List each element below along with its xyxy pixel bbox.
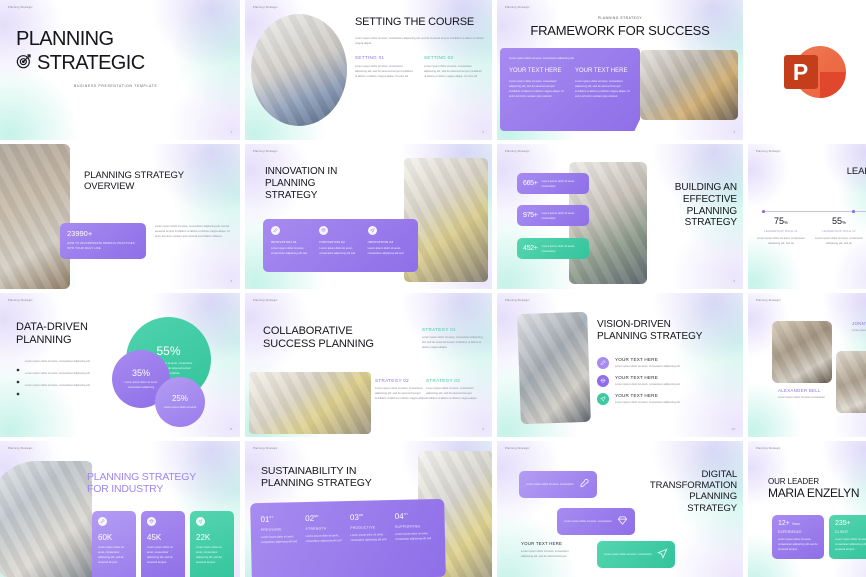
milestone-1: 75% LEADERSHIP ROLE 01 Lorem ipsum dolor… [752, 216, 810, 246]
member-2: JONNY DEPT Lorem ipsum dolor sit amet co… [852, 321, 866, 333]
page-title-line2: TRANSFORMATION [650, 480, 737, 491]
page-title-line1: VISION-DRIVEN [597, 319, 739, 331]
milestone-body: Lorem ipsum dolor sit amet, consectetur … [752, 236, 810, 246]
page-title-line2: PLANNING [265, 178, 337, 190]
page-title-line1: LEADERSHIP ROLES [760, 166, 866, 177]
stat-value: 235+ [835, 520, 866, 527]
page-title-line2: PLANNING STRATEGY [261, 477, 372, 489]
sparkle-icon [16, 359, 20, 363]
member-body: Lorem ipsum dolor sit amet consectetur [778, 395, 840, 400]
stat-value: 452+ [523, 245, 538, 252]
vision-item-1: YOUR TEXT HERE Lorem ipsum dolor sit ame… [597, 357, 737, 369]
bullet-item: Lorem ipsum dolor sit amet, consectetur … [16, 359, 104, 364]
step-label: STRENGTH [305, 526, 345, 531]
slide-photo [517, 312, 591, 424]
stat-body: Lorem ipsum dolor sit amet, consectetur [542, 244, 583, 254]
slide-header-label: Planning Strategic [756, 299, 781, 302]
slide-planning-strategy-for-industry[interactable]: Planning Strategic PLANNING STRATEGY FOR… [0, 441, 240, 577]
slide-team-profiles[interactable]: Planning Strategic ALEXANDER BELL Lorem … [748, 293, 866, 437]
slide-our-leader[interactable]: Planning Strategic OUR LEADER MARIA ENZE… [748, 441, 866, 577]
member-photo-1 [772, 321, 832, 383]
page-title-line2: PLANNING STRATEGY [597, 331, 739, 343]
slide-powerpoint-logo[interactable]: P [748, 0, 866, 140]
step-label: PRESSURE [261, 527, 301, 532]
column-body: Lorem ipsum dolor sit amet, consectetur … [355, 64, 415, 79]
innovation-panel: INNOVATION 01 Lorem ipsum dolor sit amet… [263, 219, 418, 272]
sparkle-icon [16, 371, 20, 375]
slide-planning-strategy-overview[interactable]: PLANNING STRATEGY OVERVIEW 23990+ HOW TO… [0, 144, 240, 289]
slide-page-number: 10 [732, 427, 735, 431]
strategy-label: STRATEGY 03 [426, 378, 478, 383]
vision-item-2: YOUR TEXT HERE Lorem ipsum dolor sit ame… [597, 375, 737, 387]
powerpoint-icon: P [784, 39, 846, 101]
vision-body: Lorem ipsum dolor sit amet, consectetur … [615, 400, 737, 405]
slide-page-number: 9 [482, 427, 484, 431]
bullet-item: Lorem ipsum dolor sit amet, consectetur … [16, 383, 104, 388]
slide-header-label: Planning Strategic [505, 6, 530, 9]
slide-header-label: Planning Strategic [505, 150, 530, 153]
send-icon [597, 393, 609, 405]
stat-card: 23990+ HOW TO INCORPORATE MINDFUL PRACTI… [60, 223, 146, 259]
slide-title[interactable]: Planning Strategic PLANNING STRATEGIC BU… [0, 0, 240, 140]
page-title-line4: STRATEGY [675, 217, 737, 229]
column-setting-02: SETTING 02 Lorem ipsum dolor sit amet, c… [424, 55, 484, 79]
industry-value: 45K [147, 533, 179, 542]
slide-header-label: Planning Strategic [505, 299, 530, 302]
slide-leadership-roles-strategy[interactable]: Planning Strategic LEADERSHIP ROLES STRA… [748, 144, 866, 289]
page-title-line3: PLANNING [675, 206, 737, 218]
step-04: 04TH SUPPORTING Lorem ipsum dolor sit am… [395, 511, 436, 566]
innovation-item-2: INNOVATION 02 Lorem ipsum dolor sit amet… [319, 226, 361, 265]
milestone-value: 75% [752, 216, 810, 226]
send-icon [196, 517, 205, 526]
slide-header-label: Planning Strategic [253, 299, 278, 302]
slide-header-label: Planning Strategic [8, 447, 33, 450]
page-title: FRAMEWORK FOR SUCCESS [497, 23, 743, 38]
page-title-line1: DIGITAL [650, 469, 737, 480]
slide-header-label: Planning Strategic [253, 6, 278, 9]
innovation-item-1: INNOVATION 01 Lorem ipsum dolor sit amet… [271, 226, 313, 265]
diamond-icon [597, 375, 609, 387]
panel-intro: Lorem ipsum dolor sit amet, consectetur … [509, 56, 631, 61]
page-body: Lorem ipsum dolor sit amet, consectetur … [355, 36, 484, 46]
bullet-body: Lorem ipsum dolor sit amet, consectetur … [25, 371, 90, 376]
slide-page-number: 6 [733, 279, 735, 283]
note-heading: YOUR TEXT HERE [521, 541, 581, 546]
milestone-value: 55% [810, 216, 866, 226]
diamond-icon [617, 513, 628, 531]
member-photo-2 [836, 351, 866, 413]
column-label: SETTING 02 [424, 55, 484, 60]
milestone-body: Lorem ipsum dolor sit amet, consectetur … [810, 236, 866, 246]
step-number: 02ND [305, 513, 345, 523]
page-title-line4: STRATEGY [650, 503, 737, 514]
leader-stat-2: 235+ CLIENT Lorem ipsum dolor sit amet, … [829, 515, 866, 559]
innovation-item-3: INNOVATION 03 Lorem ipsum dolor sit amet… [368, 226, 410, 265]
slide-photo [249, 372, 371, 434]
stat-card-1: 665+ Lorem ipsum dolor sit amet, consect… [517, 173, 589, 194]
stat-value: 25% [172, 394, 188, 403]
slide-innovation-in-planning-strategy[interactable]: Planning Strategic INNOVATION IN PLANNIN… [245, 144, 492, 289]
page-title-line2: FOR INDUSTRY [87, 483, 236, 495]
page-body: Lorem ipsum dolor sit amet, consectetur … [155, 224, 231, 239]
stat-value: 665+ [523, 180, 538, 187]
slide-thumbnail-grid: Planning Strategic PLANNING STRATEGIC BU… [0, 0, 866, 577]
stat-value: 35% [132, 368, 150, 378]
content-panel: Lorem ipsum dolor sit amet, consectetur … [500, 48, 640, 131]
slide-page-number: 2 [482, 130, 484, 134]
slide-setting-the-course[interactable]: Planning Strategic SETTING THE COURSE Lo… [245, 0, 492, 140]
slide-page-number: 1 [230, 130, 232, 134]
industry-body: Lorem ipsum dolor sit amet, consectetur … [98, 545, 130, 565]
page-eyebrow: PLANNING STRATEGY [497, 16, 743, 20]
industry-body: Lorem ipsum dolor sit amet, consectetur … [147, 545, 179, 565]
vision-item-3: YOUR TEXT HERE Lorem ipsum dolor sit ame… [597, 393, 737, 405]
step-number: 04TH [395, 511, 435, 521]
note-block: YOUR TEXT HERE Lorem ipsum dolor sit ame… [521, 541, 581, 559]
rocket-icon [98, 517, 107, 526]
innovation-body: Lorem ipsum dolor sit amet, consectetur … [368, 246, 410, 256]
step-body: Lorem ipsum dolor sit amet, consectetur … [306, 533, 346, 544]
innovation-label: INNOVATION 02 [319, 240, 361, 244]
leader-name: MARIA ENZELYN [768, 486, 859, 500]
send-icon [368, 226, 377, 235]
stat-circle-25: 25% Lorem ipsum dolor sit amet [155, 377, 205, 427]
stat-value: 55% [156, 344, 180, 358]
stat-body: Lorem ipsum dolor sit amet, consectetur … [835, 537, 866, 552]
panel-column-1: YOUR TEXT HERE Lorem ipsum dolor sit ame… [509, 68, 565, 99]
column-setting-01: SETTING 01 Lorem ipsum dolor sit amet, c… [355, 55, 415, 79]
milestone-label: LEADERSHIP ROLE 02 [810, 229, 866, 233]
vision-body: Lorem ipsum dolor sit amet, consectetur … [615, 364, 737, 369]
stat-body: Lorem ipsum dolor sit amet, consectetur [542, 179, 583, 189]
pill-3: Lorem ipsum dolor sit amet, consectetur [597, 541, 675, 568]
page-title-line1: INNOVATION IN [265, 166, 337, 178]
slide-header-label: Planning Strategic [505, 447, 530, 450]
page-title-line1: SUSTAINABILITY IN [261, 465, 372, 477]
stat-card-3: 452+ Lorem ipsum dolor sit amet, consect… [517, 238, 589, 259]
slide-page-number: 3 [733, 130, 735, 134]
slide-framework-for-success[interactable]: Planning Strategic PLANNING STRATEGY FRA… [497, 0, 743, 140]
stat-value: 23990+ [67, 229, 139, 238]
slide-page-number: 5 [482, 279, 484, 283]
industry-card-1: 60K Lorem ipsum dolor sit amet, consecte… [92, 511, 136, 577]
panel-column-heading: YOUR TEXT HERE [509, 68, 565, 75]
bullet-body: Lorem ipsum dolor sit amet, consectetur … [25, 383, 90, 388]
page-title-line1: PLANNING [16, 28, 158, 50]
slide-header-label: Planning Strategic [8, 299, 33, 302]
step-number: 03RD [350, 512, 390, 522]
leader-stat-1: 12+ Years EXPERIENCE Lorem ipsum dolor s… [772, 515, 824, 559]
slide-photo [0, 144, 70, 289]
slide-header-label: Planning Strategic [756, 150, 781, 153]
vision-heading: YOUR TEXT HERE [615, 375, 737, 380]
stat-body: Lorem ipsum dolor sit amet [164, 405, 196, 410]
powerpoint-letter: P [793, 59, 808, 86]
stat-label: CLIENT [835, 530, 866, 534]
strategy-02: STRATEGY 02 Lorem ipsum dolor sit amet, … [375, 378, 427, 401]
slide-digital-transformation-planning-strategy[interactable]: Planning Strategic Lorem ipsum dolor sit… [497, 441, 743, 577]
innovation-body: Lorem ipsum dolor sit amet, consectetur … [271, 246, 313, 256]
sparkle-icon [16, 383, 20, 387]
column-body: Lorem ipsum dolor sit amet, consectetur … [424, 64, 484, 79]
column-label: SETTING 01 [355, 55, 415, 60]
strategy-label: STRATEGY 01 [422, 327, 484, 332]
strategy-03: STRATEGY 03 Lorem ipsum dolor sit amet, … [426, 378, 478, 401]
stat-card-2: 975+ Lorem ipsum dolor sit amet, consect… [517, 205, 589, 226]
page-title-line2: PLANNING [16, 334, 88, 347]
member-name: ALEXANDER BELL [778, 388, 840, 393]
page-title-line2: OVERVIEW [84, 181, 234, 192]
pill-body: Lorem ipsum dolor sit amet, consectetur [604, 552, 652, 557]
page-title-line1: COLLABORATIVE [263, 325, 374, 338]
diamond-icon [147, 517, 156, 526]
strategy-body: Lorem ipsum dolor sit amet, consectetur … [426, 386, 478, 401]
industry-body: Lorem ipsum dolor sit amet, consectetur … [196, 545, 228, 565]
send-icon [657, 546, 668, 564]
slide-header-label: Planning Strategic [8, 6, 33, 9]
slide-photo [640, 50, 738, 120]
timeline-line [765, 211, 852, 212]
step-02: 02ND STRENGTH Lorem ipsum dolor sit amet… [305, 513, 346, 568]
slide-page-number: 8 [230, 427, 232, 431]
page-title-line3: PLANNING [650, 491, 737, 502]
vision-heading: YOUR TEXT HERE [615, 393, 737, 398]
panel-column-body: Lorem ipsum dolor sit amet, consectetur … [575, 79, 631, 99]
page-title: SETTING THE COURSE [355, 16, 484, 29]
note-body: Lorem ipsum dolor sit amet, consectetur … [521, 549, 581, 559]
page-title-line2: STRATEGY [760, 177, 866, 188]
slide-photo [0, 461, 92, 577]
slide-header-label: Planning Strategic [253, 150, 278, 153]
slide-page-number: 4 [230, 279, 232, 283]
step-body: Lorem ipsum dolor sit amet, consectetur … [395, 531, 435, 542]
innovation-label: INNOVATION 01 [271, 240, 313, 244]
target-icon [16, 53, 32, 74]
bullet-item: Lorem ipsum dolor sit amet, consectetur … [16, 371, 104, 376]
pill-body: Lorem ipsum dolor sit amet, consectetur [564, 519, 612, 524]
member-name: JONNY DEPT [852, 321, 866, 326]
stat-label: EXPERIENCE [778, 530, 818, 534]
slide-photo [251, 14, 347, 126]
vision-heading: YOUR TEXT HERE [615, 357, 737, 362]
step-01: 01ST PRESSURE Lorem ipsum dolor sit amet… [260, 514, 301, 569]
slide-header-label: Planning Strategic [253, 447, 278, 450]
page-title-line1: DATA-DRIVEN [16, 321, 88, 334]
slide-header-label: Planning Strategic [756, 447, 781, 450]
page-title-line2: STRATEGIC [37, 52, 145, 74]
panel-column-body: Lorem ipsum dolor sit amet, consectetur … [509, 79, 565, 99]
member-1: ALEXANDER BELL Lorem ipsum dolor sit ame… [778, 388, 840, 400]
steps-panel: 01ST PRESSURE Lorem ipsum dolor sit amet… [250, 499, 446, 577]
step-label: SUPPORTING [395, 524, 435, 529]
vision-body: Lorem ipsum dolor sit amet, consectetur … [615, 382, 737, 387]
step-03: 03RD PRODUCTIVE Lorem ipsum dolor sit am… [350, 512, 391, 567]
stat-caption: HOW TO INCORPORATE MINDFUL PRACTICES INT… [67, 241, 139, 251]
panel-column-2: YOUR TEXT HERE Lorem ipsum dolor sit ame… [575, 68, 631, 99]
innovation-body: Lorem ipsum dolor sit amet, consectetur … [319, 246, 361, 256]
strategy-body: Lorem ipsum dolor sit amet, consectetur … [422, 335, 484, 350]
slide-vision-driven-planning-strategy[interactable]: Planning Strategic VISION-DRIVEN PLANNIN… [497, 293, 743, 437]
rocket-icon [579, 476, 590, 494]
slide-building-an-effective-planning-strategy[interactable]: Planning Strategic 665+ Lorem ipsum dolo… [497, 144, 743, 289]
slide-sustainability-in-planning-strategy[interactable]: Planning Strategic SUSTAINABILITY IN PLA… [245, 441, 492, 577]
page-title-line1: PLANNING STRATEGY [84, 170, 234, 181]
pill-2: Lorem ipsum dolor sit amet, consectetur [557, 508, 635, 535]
page-title-line2: SUCCESS PLANNING [263, 338, 374, 351]
page-title-line3: STRATEGY [265, 190, 337, 202]
slide-data-driven-planning[interactable]: Planning Strategic DATA-DRIVEN PLANNING … [0, 293, 240, 437]
rocket-icon [271, 226, 280, 235]
innovation-label: INNOVATION 03 [368, 240, 410, 244]
rocket-icon [597, 357, 609, 369]
stat-body: Lorem ipsum dolor sit amet, consectetur … [120, 380, 162, 390]
milestone-2: 55% LEADERSHIP ROLE 02 Lorem ipsum dolor… [810, 216, 866, 246]
timeline-track [762, 210, 866, 213]
slide-collaborative-success-planning[interactable]: Planning Strategic COLLABORATIVE SUCCESS… [245, 293, 492, 437]
industry-card-3: 22K Lorem ipsum dolor sit amet, consecte… [190, 511, 234, 577]
pill-1: Lorem ipsum dolor sit amet, consectetur [519, 471, 597, 498]
step-number: 01ST [260, 514, 300, 524]
industry-card-2: 45K Lorem ipsum dolor sit amet, consecte… [141, 511, 185, 577]
stat-body: Lorem ipsum dolor sit amet, consectetur … [778, 537, 818, 552]
panel-column-heading: YOUR TEXT HERE [575, 68, 631, 75]
bullet-body: Lorem ipsum dolor sit amet, consectetur … [25, 359, 90, 364]
step-body: Lorem ipsum dolor sit amet, consectetur … [261, 534, 301, 545]
stat-value: 975+ [523, 212, 538, 219]
industry-value: 60K [98, 533, 130, 542]
step-label: PRODUCTIVE [350, 525, 390, 530]
strategy-label: STRATEGY 02 [375, 378, 427, 383]
milestone-label: LEADERSHIP ROLE 01 [752, 229, 810, 233]
page-title-line1: PLANNING STRATEGY [87, 471, 236, 483]
diamond-icon [319, 226, 328, 235]
page-eyebrow: OUR LEADER [768, 477, 859, 486]
page-title-line2: EFFECTIVE [675, 194, 737, 206]
stat-body: Lorem ipsum dolor sit amet, consectetur [542, 211, 583, 221]
page-subtitle: BUSINESS PRESENTATION TEMPLATE [74, 84, 158, 88]
pill-body: Lorem ipsum dolor sit amet, consectetur [526, 482, 574, 487]
page-title-line1: BUILDING AN [675, 182, 737, 194]
industry-value: 22K [196, 533, 228, 542]
timeline-line [855, 211, 866, 212]
step-body: Lorem ipsum dolor sit amet, consectetur … [350, 532, 390, 543]
stat-value: 12+ Years [778, 520, 818, 527]
member-body: Lorem ipsum dolor sit amet consectetur [852, 328, 866, 333]
strategy-body: Lorem ipsum dolor sit amet, consectetur … [375, 386, 427, 401]
strategy-01: STRATEGY 01 Lorem ipsum dolor sit amet, … [422, 327, 484, 350]
